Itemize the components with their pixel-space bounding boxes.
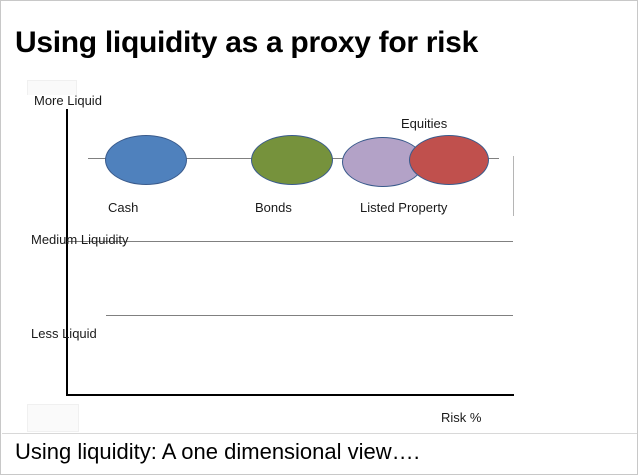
x-axis-label-risk: Risk % [441, 410, 481, 425]
gridline-less-liquid [106, 315, 513, 316]
bubble-label-equities: Equities [401, 116, 447, 131]
bubble-cash [105, 135, 187, 185]
y-axis-label-more-liquid: More Liquid [34, 93, 102, 108]
y-axis-line [66, 109, 68, 396]
footer-divider [2, 433, 638, 434]
placeholder-box-bottom [27, 404, 79, 432]
bubble-label-bonds: Bonds [255, 200, 292, 215]
x-axis-line [66, 394, 514, 396]
bubble-bonds [251, 135, 333, 185]
y-axis-label-less-liquid: Less Liquid [31, 326, 97, 341]
bubble-equities [409, 135, 489, 185]
presentation-slide: Using liquidity as a proxy for risk More… [0, 0, 638, 475]
right-edge-tick [513, 156, 514, 216]
y-axis-label-medium-liquidity: Medium Liquidity [31, 232, 129, 247]
slide-footer-text: Using liquidity: A one dimensional view…… [15, 439, 420, 465]
bubble-label-cash: Cash [108, 200, 138, 215]
liquidity-risk-chart: More Liquid Medium Liquidity Less Liquid… [1, 1, 638, 441]
gridline-medium-liquidity [67, 241, 513, 242]
bubble-label-listed-property: Listed Property [360, 200, 447, 215]
